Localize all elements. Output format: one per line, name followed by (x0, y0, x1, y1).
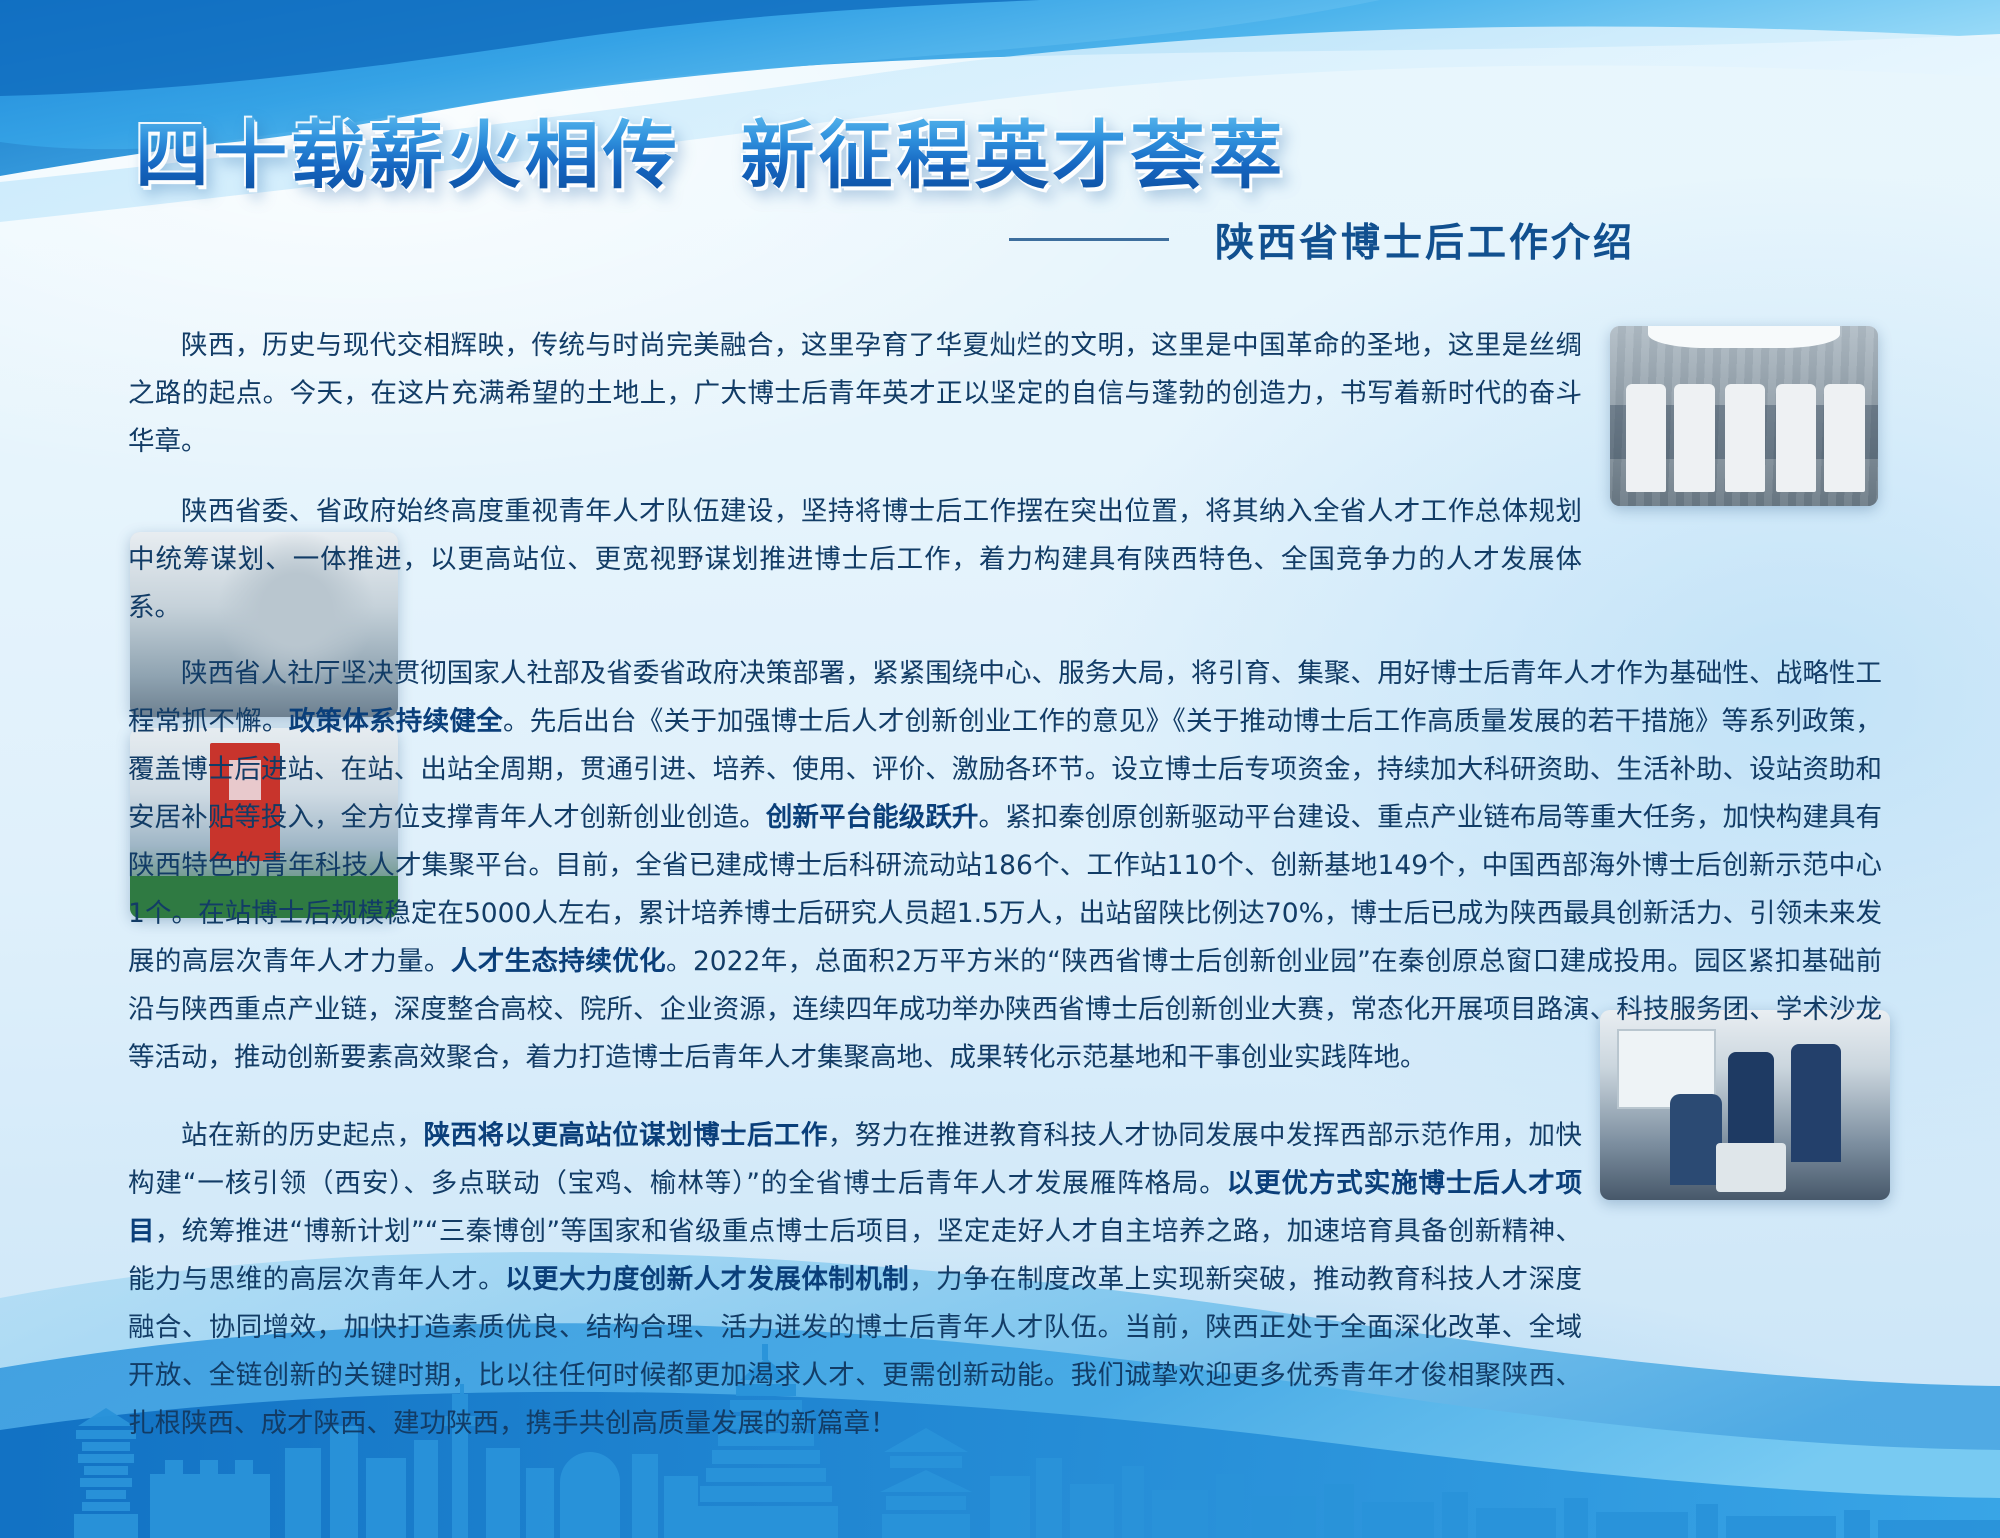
poster-body: 陕西，历史与现代交相辉映，传统与时尚完美融合，这里孕育了华夏灿烂的文明，这里是中… (0, 300, 2000, 1462)
poster-header: 四十载薪火相传 新征程英才荟萃 陕西省博士后工作介绍 (135, 115, 1695, 268)
p3-highlight-platform: 创新平台能级跃升 (766, 802, 979, 833)
paragraph-3: 陕西省人社厅坚决贯彻国家人社部及省委省政府决策部署，紧紧围绕中心、服务大局，将引… (128, 650, 1882, 1082)
p4-segment-1: 站在新的历史起点， (181, 1120, 424, 1151)
subtitle: 陕西省博士后工作介绍 (1215, 212, 1635, 268)
paragraph-4: 站在新的历史起点，陕西将以更高站位谋划博士后工作，努力在推进教育科技人才协同发展… (128, 1112, 1882, 1448)
subtitle-row: 陕西省博士后工作介绍 (135, 212, 1695, 268)
p4-highlight-stronger-reform: 以更大力度创新人才发展体制机制 (505, 1264, 909, 1295)
p3-highlight-policy: 政策体系持续健全 (289, 706, 503, 737)
p4-highlight-higher-position: 陕西将以更高站位谋划博士后工作 (424, 1120, 828, 1151)
subtitle-rule-line (1009, 238, 1169, 241)
paragraph-2: 陕西省委、省政府始终高度重视青年人才队伍建设，坚持将博士后工作摆在突出位置，将其… (128, 488, 1882, 632)
poster-root: 四十载薪火相传 新征程英才荟萃 陕西省博士后工作介绍 陕西，历史与现代交相辉映，… (0, 0, 2000, 1538)
page-title: 四十载薪火相传 新征程英才荟萃 (135, 115, 1695, 198)
paragraph-1: 陕西，历史与现代交相辉映，传统与时尚完美融合，这里孕育了华夏灿烂的文明，这里是中… (128, 322, 1882, 466)
p3-highlight-ecosystem: 人才生态持续优化 (451, 946, 666, 977)
